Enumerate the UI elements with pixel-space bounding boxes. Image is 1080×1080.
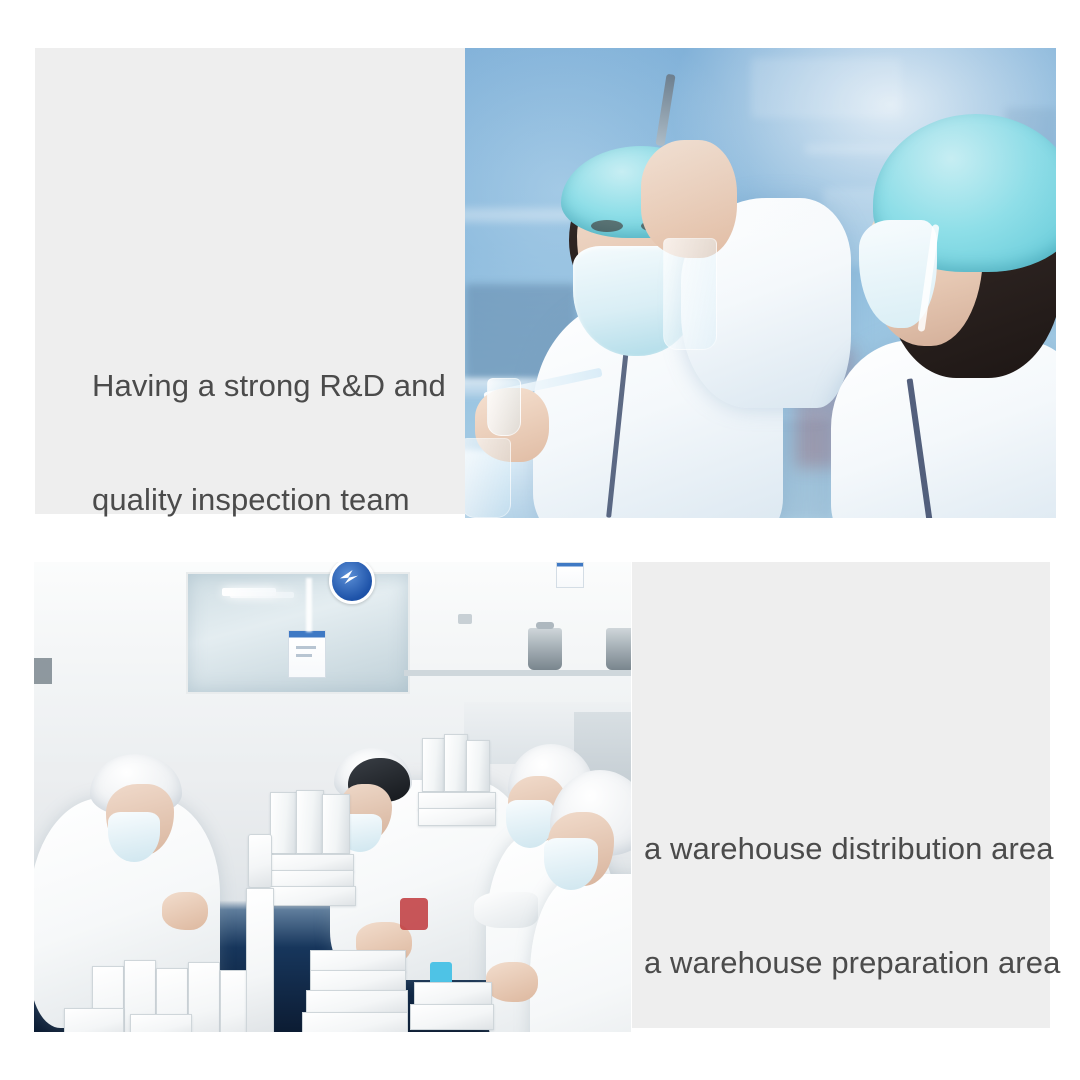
top-caption-line-2: quality inspection team <box>92 481 446 519</box>
carton-stack-item <box>296 790 324 854</box>
carton-stack-item <box>266 886 356 906</box>
table-carton <box>410 1004 494 1030</box>
tall-white-carton <box>246 888 274 1032</box>
bottom-text-panel: a warehouse distribution area a warehous… <box>632 562 1050 1028</box>
table-carton <box>310 970 406 992</box>
steel-pot-1 <box>528 628 562 670</box>
photo-tint-overlay <box>465 48 1056 518</box>
table-carton <box>188 962 220 1032</box>
ceiling-curtain <box>306 578 312 632</box>
wall-shelf <box>404 670 631 676</box>
steel-pot-1-lid <box>536 622 554 629</box>
top-caption: Having a strong R&D and quality inspecti… <box>92 291 446 595</box>
top-caption-line-1: Having a strong R&D and <box>92 367 446 405</box>
carton-stack-item <box>422 738 446 792</box>
table-carton <box>310 950 406 972</box>
table-carton <box>306 990 408 1014</box>
carton-stack-item <box>466 740 490 792</box>
wall-notice-line-1 <box>296 646 316 649</box>
wall-notice-line-2 <box>296 654 312 657</box>
wall-vent <box>34 658 52 684</box>
bottom-caption-line-1: a warehouse distribution area <box>644 830 1060 868</box>
carton-stack-item <box>418 808 496 826</box>
table-carton <box>130 1014 192 1032</box>
carton-stack-item <box>444 734 468 792</box>
table-carton <box>64 1008 124 1032</box>
top-text-panel: Having a strong R&D and quality inspecti… <box>35 48 469 514</box>
worker-1-hand <box>162 892 208 930</box>
bottom-caption-line-2: a warehouse preparation area <box>644 944 1060 982</box>
wall-item <box>458 614 472 624</box>
white-bottle <box>248 834 272 888</box>
table-carton <box>414 982 492 1006</box>
steel-pot-2 <box>606 628 631 670</box>
table-carton <box>302 1012 408 1032</box>
carton-stack-item <box>322 794 350 854</box>
wall-notice-right <box>556 562 584 588</box>
rd-quality-inspection-photo <box>465 48 1056 518</box>
bottom-caption: a warehouse distribution area a warehous… <box>644 754 1060 1058</box>
worker-3-sleeve <box>474 892 538 928</box>
ceiling-light-2 <box>230 592 294 598</box>
warehouse-packing-photo <box>34 562 631 1032</box>
worker-4-hand <box>486 962 538 1002</box>
carton-stack-item <box>270 792 298 854</box>
red-item <box>400 898 428 930</box>
